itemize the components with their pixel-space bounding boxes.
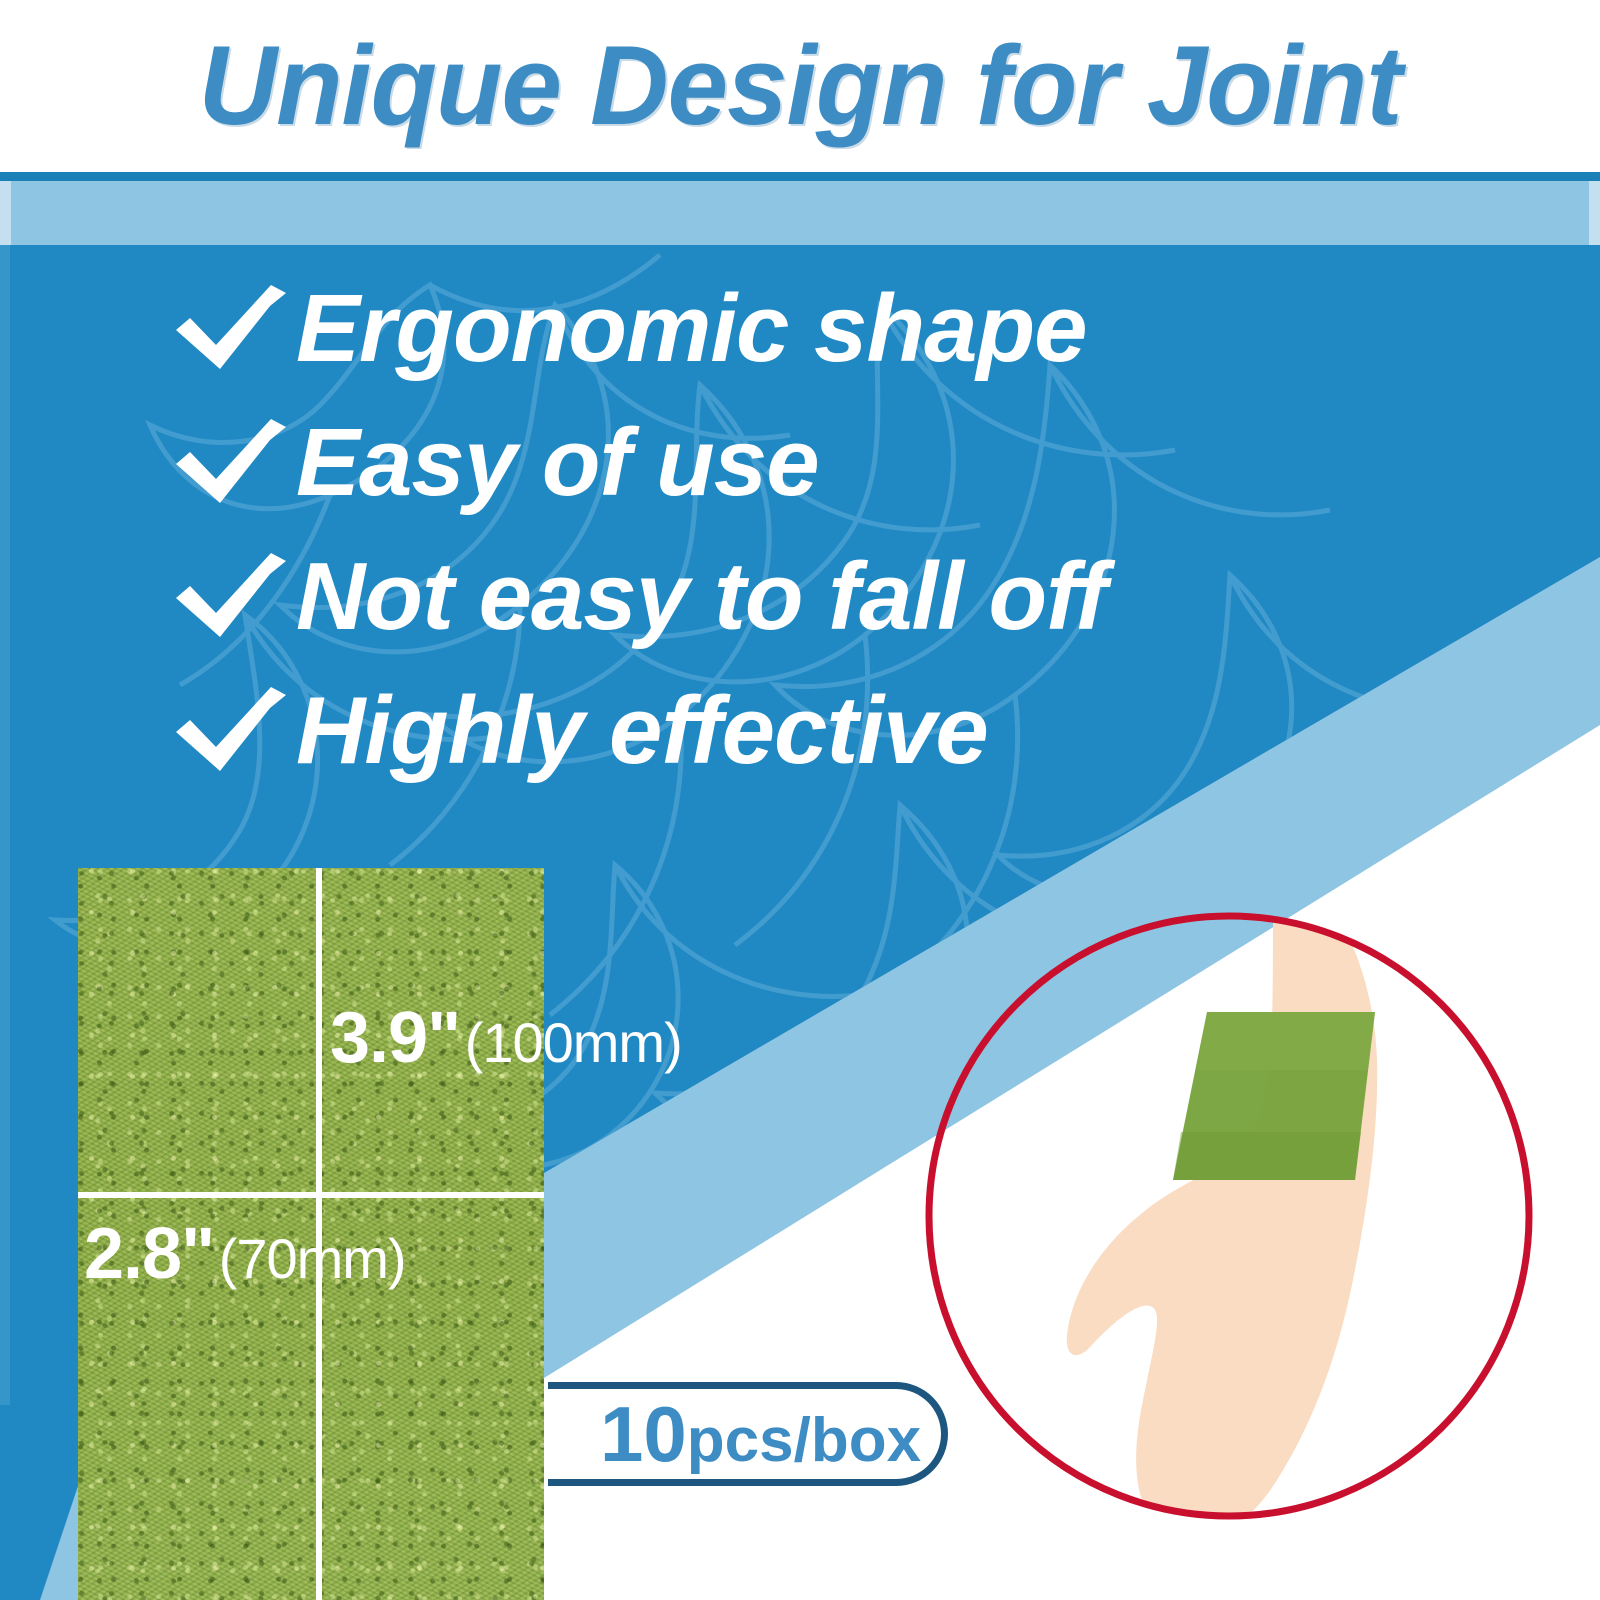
page-title: Unique Design for Joint	[199, 30, 1402, 142]
panel-left-edge	[0, 245, 10, 1405]
feature-label: Highly effective	[296, 683, 988, 779]
illustration-contents	[1067, 902, 1377, 1541]
dimension-width-inches: 2.8"	[84, 1214, 214, 1294]
feature-item: Highly effective	[170, 664, 1430, 798]
feature-item: Ergonomic shape	[170, 262, 1430, 396]
header-rule	[0, 172, 1600, 181]
feature-item: Not easy to fall off	[170, 530, 1430, 664]
quantity-badge: 10pcs/box	[548, 1382, 948, 1486]
dimension-guide-horizontal	[78, 1192, 544, 1198]
dimension-width-metric: (70mm)	[219, 1227, 406, 1290]
check-icon	[170, 283, 296, 375]
hand-shape	[1067, 902, 1377, 1541]
quantity-unit: pcs/box	[687, 1406, 921, 1475]
feature-label: Not easy to fall off	[296, 549, 1106, 645]
hand-wrist-with-patch-illustration	[905, 880, 1553, 1552]
quantity-badge-text: 10pcs/box	[600, 1395, 921, 1473]
check-icon	[170, 551, 296, 643]
header-band-left-cap	[0, 181, 11, 245]
check-icon	[170, 417, 296, 509]
quantity-count: 10	[600, 1390, 687, 1478]
feature-label: Ergonomic shape	[296, 281, 1087, 377]
feature-label: Easy of use	[296, 415, 819, 511]
wrist-patch-shadow	[1173, 1132, 1361, 1180]
dimension-label-height: 3.9" (100mm)	[330, 1002, 682, 1074]
dimension-height-metric: (100mm)	[465, 1011, 682, 1074]
feature-list: Ergonomic shape Easy of use Not easy to …	[170, 262, 1430, 798]
feature-item: Easy of use	[170, 396, 1430, 530]
header-light-band	[0, 181, 1600, 245]
product-infographic: Unique Design for Joint	[0, 0, 1600, 1600]
dimension-height-inches: 3.9"	[330, 998, 460, 1078]
check-icon	[170, 685, 296, 777]
dimension-label-width: 2.8" (70mm)	[84, 1218, 406, 1290]
wrist-patch-highlight	[1197, 1012, 1375, 1070]
title-bar: Unique Design for Joint	[0, 0, 1600, 172]
header-band-right-cap	[1589, 181, 1600, 245]
